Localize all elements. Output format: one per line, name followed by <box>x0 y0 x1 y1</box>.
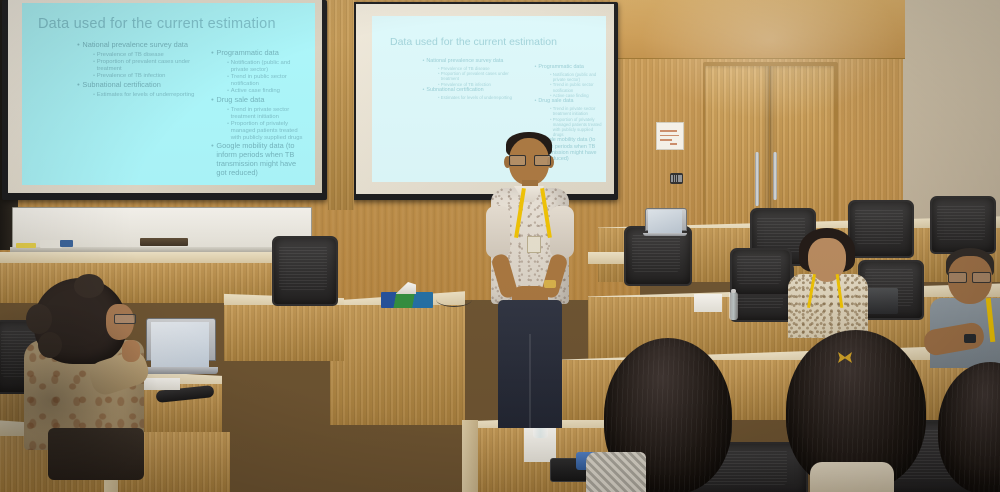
slide-left: Data used for the current estimation Nat… <box>22 3 315 185</box>
bullet-l2: Trend in private sector treatment initia… <box>231 107 307 121</box>
door-access-keypad[interactable] <box>670 173 683 184</box>
wristwatch <box>544 280 556 288</box>
bullet-l2: Notification (public and private sector) <box>553 72 604 82</box>
bullet-l2: Trend in public sector notification <box>553 82 604 92</box>
presenter-sleeve-right <box>550 206 574 258</box>
attendee-right-woman <box>786 228 872 338</box>
papers-right-tier <box>694 294 722 312</box>
bullet-l2: Trend in public sector notification <box>231 74 307 88</box>
bullet-l1: Drug sale data <box>538 98 604 104</box>
presenter-desk-face <box>330 305 465 425</box>
chair-right-g[interactable] <box>730 248 788 292</box>
bullet-l1: Drug sale data <box>216 96 307 105</box>
wall-panel-between-screens <box>328 0 354 210</box>
slide-right-screen-column-left: National prevalence survey data Prevalen… <box>412 58 520 101</box>
hair-strands <box>938 362 1000 492</box>
slide-left-column-right: Programmatic data Notification (public a… <box>202 49 307 179</box>
attendee-left-hair-curl <box>74 274 104 298</box>
door-handle-left[interactable] <box>755 152 759 206</box>
bullet-l1: National prevalence survey data <box>426 58 520 64</box>
wristwatch <box>964 334 976 343</box>
bullet-l1: National prevalence survey data <box>82 41 198 50</box>
bullet-l2: Estimates for levels of underreporting <box>97 92 198 99</box>
chair-right-d[interactable] <box>930 196 992 250</box>
bullet-l2: Proportion of privately managed patients… <box>231 121 307 142</box>
tissue-box[interactable] <box>381 282 433 308</box>
bullet-l2: Trend in private sector treatment initia… <box>553 106 604 116</box>
wall-vent <box>140 238 188 246</box>
chair-mesh <box>937 204 984 241</box>
laptop-base <box>643 233 688 236</box>
tissue-box-body <box>381 292 433 308</box>
chair-mesh <box>632 234 681 272</box>
marker-blue[interactable] <box>60 240 73 247</box>
attendee-right-man <box>930 248 1000 368</box>
slide-left-column-left: National prevalence survey data Prevalen… <box>68 41 198 99</box>
laptop-screen <box>648 210 682 232</box>
id-badge <box>527 236 541 253</box>
water-bottle-right-tier[interactable] <box>729 292 738 320</box>
glasses-icon <box>948 272 992 282</box>
corner-shadow-left <box>0 300 160 492</box>
bottle-cap <box>731 289 737 292</box>
far-left-bench-face <box>224 305 344 361</box>
chair-mesh <box>737 254 781 284</box>
foreground-attendee-right <box>938 362 1000 492</box>
slide-bullets-left-col: National prevalence survey data Prevalen… <box>68 41 198 99</box>
chair-left-rear[interactable] <box>272 236 334 302</box>
bullet-l1: Subnational certification <box>426 87 520 93</box>
chair-mesh <box>279 245 326 290</box>
foreground-attendee-left-shoulder <box>586 452 646 492</box>
attendee-right-woman-top <box>788 274 868 338</box>
slide-bullets-right-col: Programmatic data Notification (public a… <box>202 49 307 177</box>
laptop-right-tier[interactable] <box>645 208 685 236</box>
bullet-l1: Google mobility data (to inform periods … <box>216 142 307 177</box>
door-handle-right[interactable] <box>773 152 777 200</box>
center-front-desk-side-top <box>462 420 478 492</box>
highlight-window <box>640 0 900 120</box>
bullet-l1: Programmatic data <box>538 64 604 70</box>
slide-bullets-left-col: National prevalence survey data Prevalen… <box>412 58 520 100</box>
presenter-sleeve-left <box>486 206 510 258</box>
bullet-l2: Estimates for levels of underreporting <box>441 95 520 100</box>
bullet-l1: Subnational certification <box>82 81 198 90</box>
slide-title-right: Data used for the current estimation <box>390 36 557 48</box>
bullet-l2: Prevalence of TB infection <box>441 82 520 87</box>
bullet-l1: Programmatic data <box>216 49 307 58</box>
tissue-sheet <box>396 282 417 294</box>
presenter-leg-seam <box>529 334 531 428</box>
bullet-l2: Notification (public and private sector) <box>231 60 307 74</box>
slide-title-left: Data used for the current estimation <box>38 16 276 32</box>
lecture-hall-photo: Data used for the current estimation Nat… <box>0 0 1000 492</box>
glasses-icon <box>509 155 549 165</box>
bullet-l2: Prevalence of TB disease <box>97 52 198 59</box>
bullet-l2: Active case finding <box>553 93 604 98</box>
foreground-attendee-center-shoulder <box>810 462 894 492</box>
bullet-l2: Prevalence of TB disease <box>441 66 520 71</box>
desk-cable <box>436 292 472 307</box>
bullet-l2: Proportion of prevalent cases under trea… <box>441 71 520 81</box>
marker-yellow[interactable] <box>16 243 36 248</box>
door-notice-sign <box>656 122 684 150</box>
bullet-l2: Proportion of prevalent cases under trea… <box>97 59 198 73</box>
presenter <box>478 128 582 428</box>
marker-white-tray[interactable] <box>40 240 62 248</box>
